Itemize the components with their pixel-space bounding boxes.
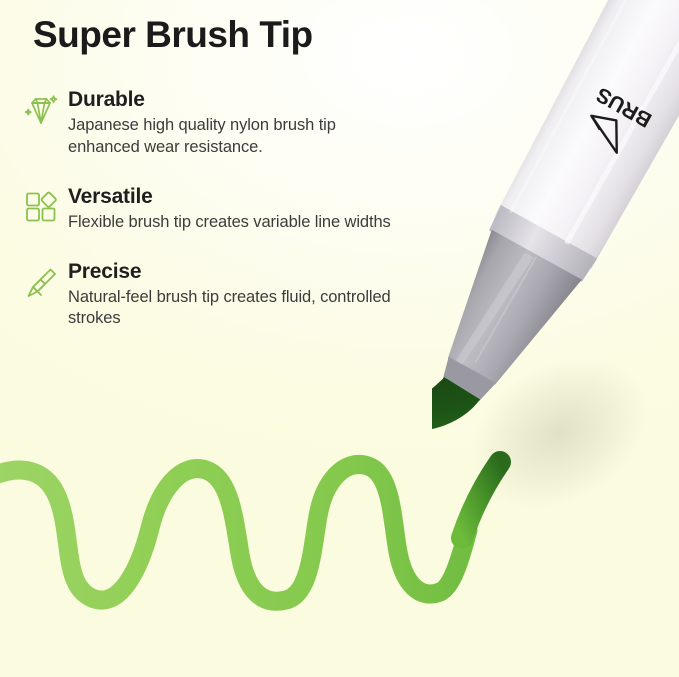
feature-item-versatile: Versatile Flexible brush tip creates var… <box>18 185 418 234</box>
brush-marker-pen: BRUS er <box>432 0 679 490</box>
page-title: Super Brush Tip <box>33 12 313 58</box>
product-feature-graphic: Super Brush Tip Durable Japanese high qu… <box>0 0 679 677</box>
feature-list: Durable Japanese high quality nylon brus… <box>18 88 418 356</box>
feature-item-precise: Precise Natural-feel brush tip creates f… <box>18 260 418 331</box>
four-squares-icon <box>18 185 64 231</box>
pen-nib-icon <box>18 260 64 306</box>
feature-text-precise: Precise Natural-feel brush tip creates f… <box>64 260 418 331</box>
feature-text-versatile: Versatile Flexible brush tip creates var… <box>64 185 418 234</box>
feature-description: Japanese high quality nylon brush tip en… <box>68 115 408 159</box>
feature-title: Versatile <box>68 185 418 209</box>
feature-title: Durable <box>68 88 418 112</box>
brush-tip-icon <box>582 109 631 153</box>
pen-cast-shadow <box>398 208 679 592</box>
feature-title: Precise <box>68 260 418 284</box>
pen-barrel-label: BRUS <box>592 83 655 132</box>
feature-description: Natural-feel brush tip creates fluid, co… <box>68 287 408 331</box>
feature-item-durable: Durable Japanese high quality nylon brus… <box>18 88 418 159</box>
brush-stroke-illustration <box>0 400 679 677</box>
feature-description: Flexible brush tip creates variable line… <box>68 212 408 234</box>
diamond-sparkle-icon <box>18 88 64 134</box>
feature-text-durable: Durable Japanese high quality nylon brus… <box>64 88 418 159</box>
